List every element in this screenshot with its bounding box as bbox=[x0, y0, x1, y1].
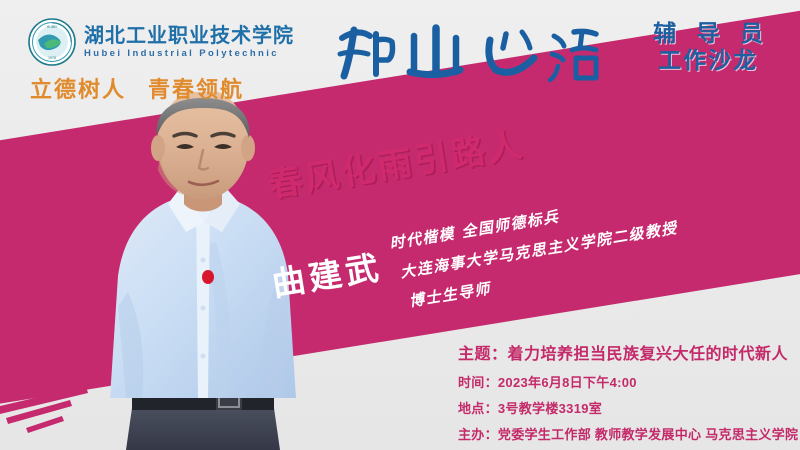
salon-line-1: 辅 导 员 bbox=[646, 20, 770, 47]
poster-header: HUBEI 1978 湖北工业职业技术学院 Hubei Industrial P… bbox=[0, 0, 800, 110]
university-name-en: Hubei Industrial Polytechnic bbox=[84, 49, 294, 59]
slogan-part-1: 立德树人 bbox=[30, 77, 126, 102]
event-place: 地点：3号教学楼3319室 bbox=[458, 398, 798, 417]
event-organizer: 主办：党委学生工作部 教师教学发展中心 马克思主义学院 bbox=[458, 424, 798, 443]
calligraphy-title-heshanxinyu bbox=[330, 14, 600, 90]
event-topic: 主题：着力培养担当民族复兴大任的时代新人 bbox=[458, 340, 798, 364]
svg-text:HUBEI: HUBEI bbox=[47, 25, 58, 29]
slogan-part-2: 青春领航 bbox=[148, 77, 244, 102]
university-logo: HUBEI 1978 湖北工业职业技术学院 Hubei Industrial P… bbox=[28, 18, 294, 66]
event-info-block: 主题：着力培养担当民族复兴大任的时代新人 时间：2023年6月8日下午4:00 … bbox=[458, 340, 798, 450]
salon-line-2: 工作沙龙 bbox=[646, 47, 770, 74]
svg-text:1978: 1978 bbox=[48, 56, 56, 60]
salon-label: 辅 导 员 工作沙龙 bbox=[646, 20, 770, 74]
hubei-polytechnic-emblem-icon: HUBEI 1978 bbox=[28, 18, 76, 66]
university-name-cn: 湖北工业职业技术学院 bbox=[84, 25, 294, 45]
event-time: 时间：2023年6月8日下午4:00 bbox=[458, 372, 798, 391]
event-poster: HUBEI 1978 湖北工业职业技术学院 Hubei Industrial P… bbox=[0, 0, 800, 450]
university-slogan: 立德树人青春领航 bbox=[30, 72, 244, 104]
